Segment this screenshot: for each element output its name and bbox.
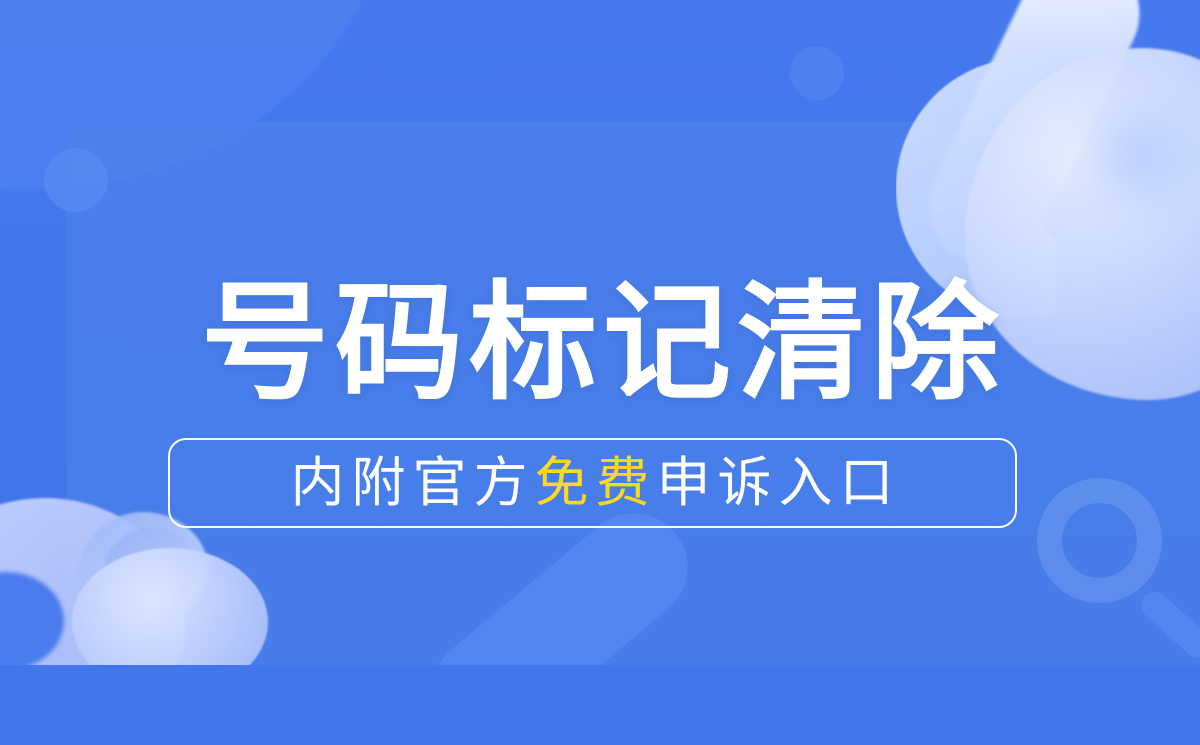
banner-subtitle: 内附官方免费申诉入口 — [291, 456, 901, 510]
banner-content: 号码标记清除 — [0, 0, 1200, 745]
subtitle-highlight-text: 免费 — [535, 453, 657, 513]
subtitle-box: 内附官方免费申诉入口 — [168, 438, 1017, 528]
subtitle-lead-text: 内附官方 — [291, 453, 535, 513]
subtitle-trail-text: 申诉入口 — [657, 453, 901, 513]
promo-banner: 号码标记清除 内附官方免费申诉入口 — [0, 0, 1200, 745]
